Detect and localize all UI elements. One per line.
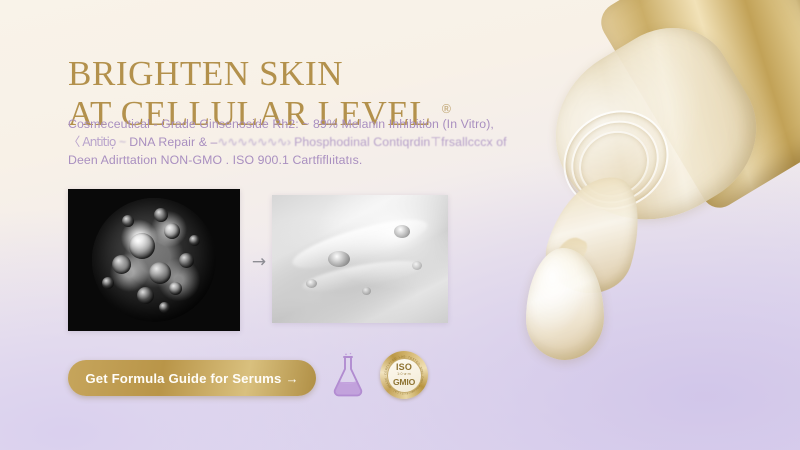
micrograph-before bbox=[68, 189, 240, 331]
seal-top-text: ISO bbox=[396, 363, 412, 372]
serum-drop-tip bbox=[548, 232, 590, 281]
micrograph-after bbox=[272, 195, 448, 323]
serum-marketing-banner: BRIGHTEN SKIN AT CELLULAR LEVEL® Cosmece… bbox=[0, 0, 800, 450]
laboratory-flask-icon bbox=[326, 352, 370, 398]
bottle-gold-cap bbox=[594, 0, 800, 214]
subheadline-copy: Cosmeceutical - Grade Ginsenoside Rh2: ~… bbox=[68, 115, 548, 170]
cta-button[interactable]: Get Formula Guide for Serums → bbox=[68, 360, 316, 396]
subcopy-line-3: Deen Adirttation NON-GMO . ISO 900.1 Car… bbox=[68, 151, 548, 169]
serum-droplet bbox=[526, 248, 604, 360]
serum-stream bbox=[537, 164, 653, 303]
bottle-neck-ring bbox=[545, 91, 687, 229]
subcopy-line-2-fragment-e: ∿∿∿∿∿∿∿› bbox=[218, 135, 291, 149]
seal-inner-face: ISO 1:0·a·m GMIO bbox=[387, 358, 422, 393]
bottle-glass-body bbox=[525, 4, 784, 256]
bottle-neck-ring bbox=[567, 118, 662, 210]
registered-trademark-icon: ® bbox=[440, 103, 453, 115]
subcopy-line-2-fragment-d: – bbox=[211, 135, 218, 149]
cell-cluster-graphic bbox=[92, 198, 216, 322]
product-image bbox=[498, 0, 800, 450]
subcopy-line-1: Cosmeceutical - Grade Ginsenoside Rh2: ~… bbox=[68, 115, 548, 133]
transformation-arrow-icon: → bbox=[248, 252, 270, 272]
subcopy-line-2: 〈 Antitio̦ ~ DNA Repair & –∿∿∿∿∿∿∿› Phos… bbox=[68, 133, 548, 151]
iso-certification-seal: CERTIFIED·LAB·TESTED·NON·GMO·COSMECEUTIC… bbox=[380, 351, 428, 399]
subcopy-line-2-fragment-b: ~ bbox=[119, 135, 126, 149]
subcopy-line-2-fragment-c: DNA Repair & bbox=[129, 135, 207, 149]
subcopy-line-2-fragment-f: Phosphodinal Contiqrdin⊤frsallcccx of bbox=[294, 135, 507, 149]
subcopy-line-2-fragment-a: 〈 Antitio̦ bbox=[68, 135, 115, 149]
seal-bottom-text: GMIO bbox=[393, 377, 415, 387]
bottle-neck-ring bbox=[556, 105, 674, 220]
headline-line-1: BRIGHTEN SKIN bbox=[68, 54, 343, 93]
